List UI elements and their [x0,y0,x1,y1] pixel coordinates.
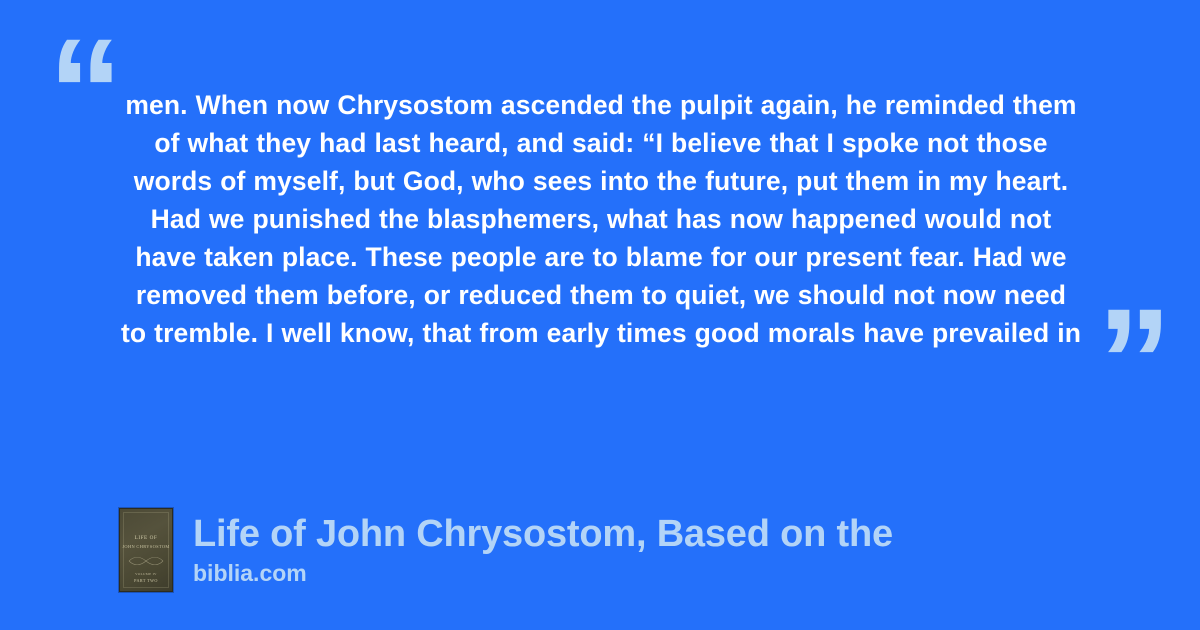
book-cover-subtitle: Part Two [120,578,172,583]
quote-text: men. When now Chrysostom ascended the pu… [120,86,1082,352]
book-cover-volume: Volume IV [120,572,172,576]
attribution-footer: Life of John Chrysostom Volume IV Part T… [119,508,893,592]
book-title[interactable]: Life of John Chrysostom, Based on the [193,512,893,556]
book-cover-thumbnail: Life of John Chrysostom Volume IV Part T… [119,508,173,592]
site-name[interactable]: biblia.com [193,558,893,588]
book-cover-flourish-icon [127,555,165,567]
closing-quote-icon: ” [1097,286,1168,436]
attribution-text: Life of John Chrysostom, Based on the bi… [193,508,893,588]
book-cover-border [123,512,169,588]
quote-block: men. When now Chrysostom ascended the pu… [120,86,1082,352]
book-cover-title-line1: Life of [120,535,172,541]
opening-quote-icon: “ [48,16,119,166]
quote-card: “ men. When now Chrysostom ascended the … [0,0,1200,630]
book-cover-title-line2: John Chrysostom [120,544,172,549]
